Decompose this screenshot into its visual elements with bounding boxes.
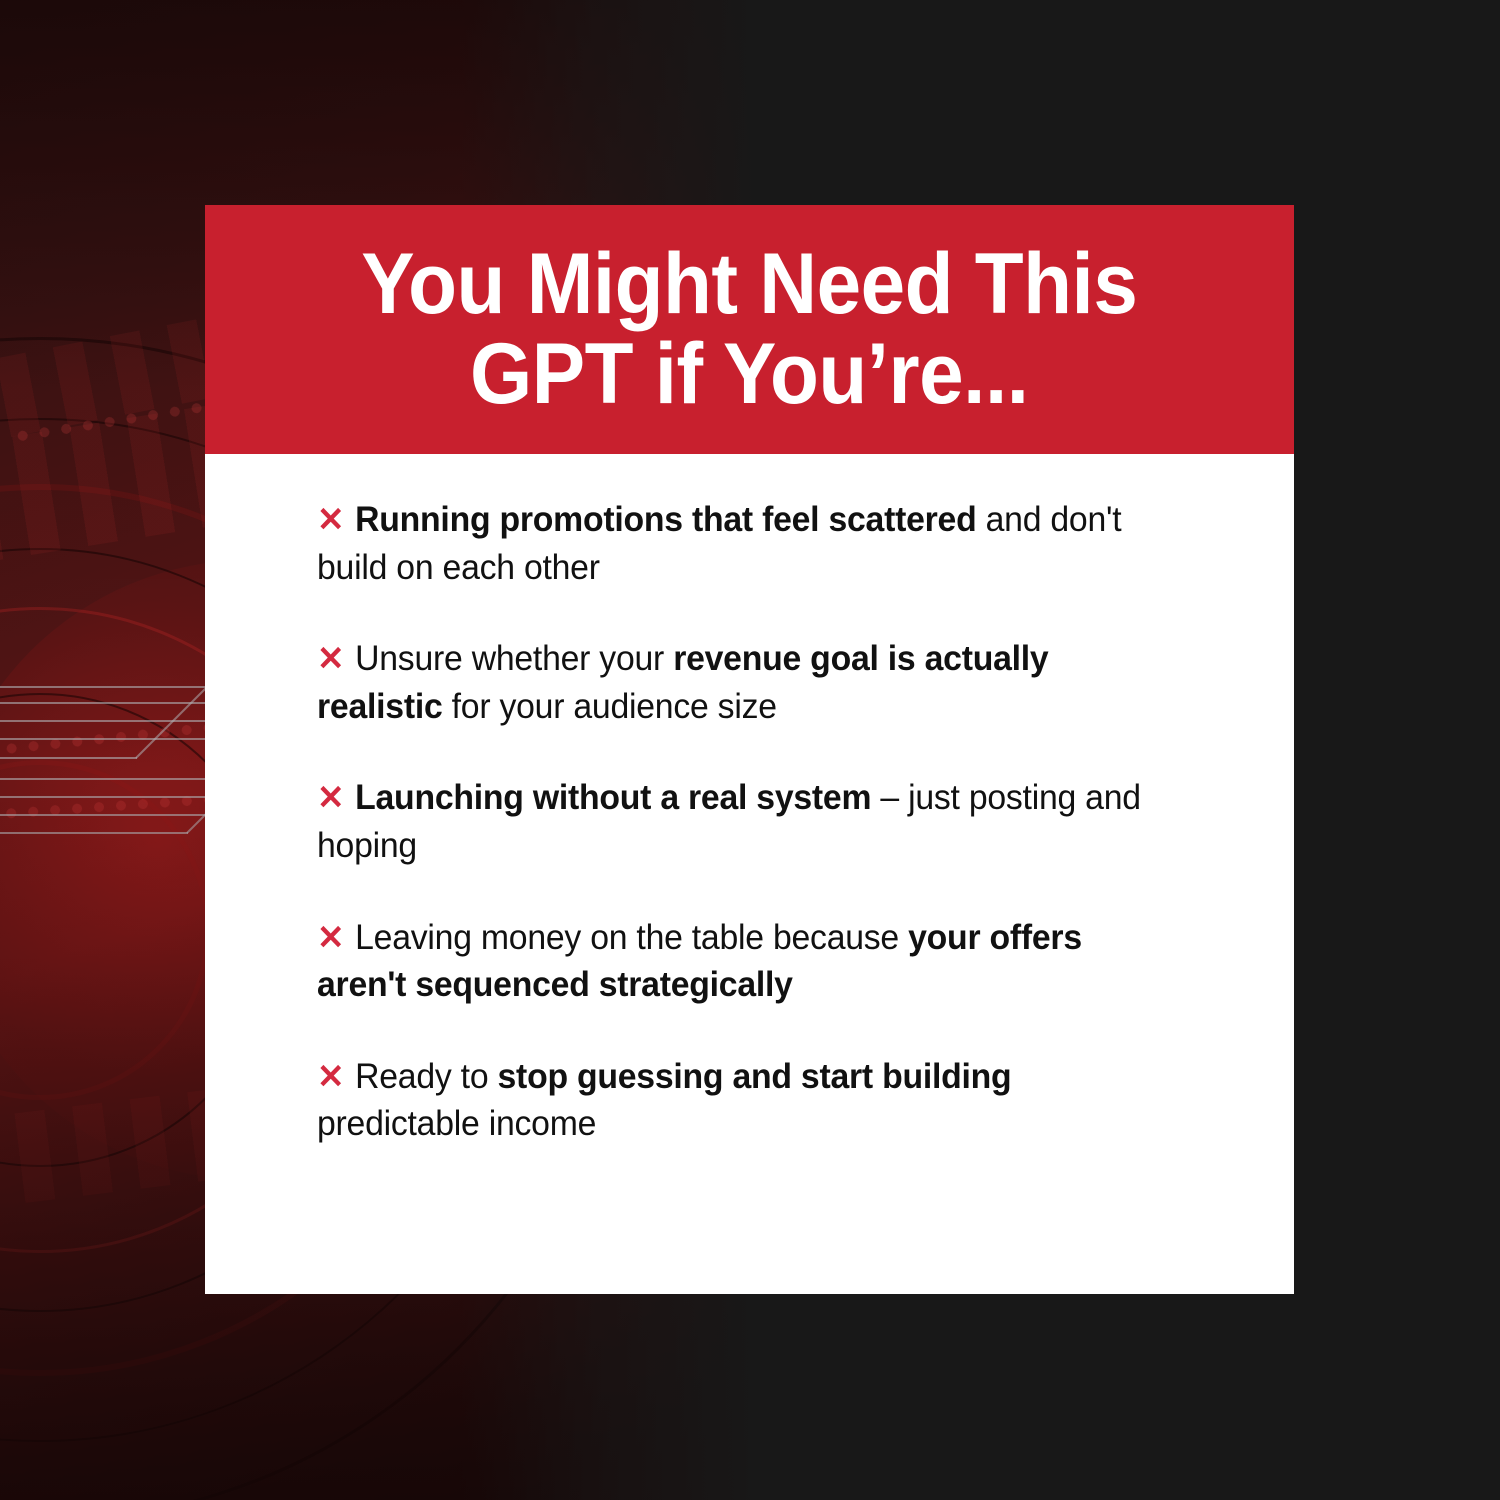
list-item-text-emphasis: Running promotions that feel scattered bbox=[355, 500, 976, 539]
list-item: ✕Ready to stop guessing and start buildi… bbox=[317, 1053, 1167, 1148]
list-item: ✕Leaving money on the table because your… bbox=[317, 914, 1167, 1009]
x-mark-icon: ✕ bbox=[317, 640, 345, 678]
list-item: ✕Running promotions that feel scattered … bbox=[317, 496, 1167, 591]
page-title-line-1: You Might Need This bbox=[361, 240, 1137, 329]
card-header: You Might Need This GPT if You’re... bbox=[205, 205, 1294, 454]
list-item-text: Unsure whether your bbox=[355, 639, 673, 678]
list-item: ✕Unsure whether your revenue goal is act… bbox=[317, 635, 1167, 730]
x-mark-icon: ✕ bbox=[317, 779, 345, 817]
x-mark-icon: ✕ bbox=[317, 1058, 345, 1096]
page-title-line-2: GPT if You’re... bbox=[470, 330, 1028, 419]
list-item-text: Leaving money on the table because bbox=[355, 918, 908, 957]
x-mark-icon: ✕ bbox=[317, 501, 345, 539]
list-item-text-emphasis: stop guessing and start building bbox=[498, 1057, 1012, 1096]
card-body: ✕Running promotions that feel scattered … bbox=[205, 454, 1294, 1294]
list-item-text: Ready to bbox=[355, 1057, 497, 1096]
list-item-text: for your audience size bbox=[443, 687, 777, 726]
list-item: ✕Launching without a real system – just … bbox=[317, 774, 1167, 869]
list-item-text: predictable income bbox=[317, 1104, 596, 1143]
content-card: You Might Need This GPT if You’re... ✕Ru… bbox=[205, 205, 1294, 1294]
slide-canvas: You Might Need This GPT if You’re... ✕Ru… bbox=[0, 0, 1500, 1500]
list-item-text-emphasis: Launching without a real system bbox=[355, 778, 871, 817]
x-mark-icon: ✕ bbox=[317, 919, 345, 957]
